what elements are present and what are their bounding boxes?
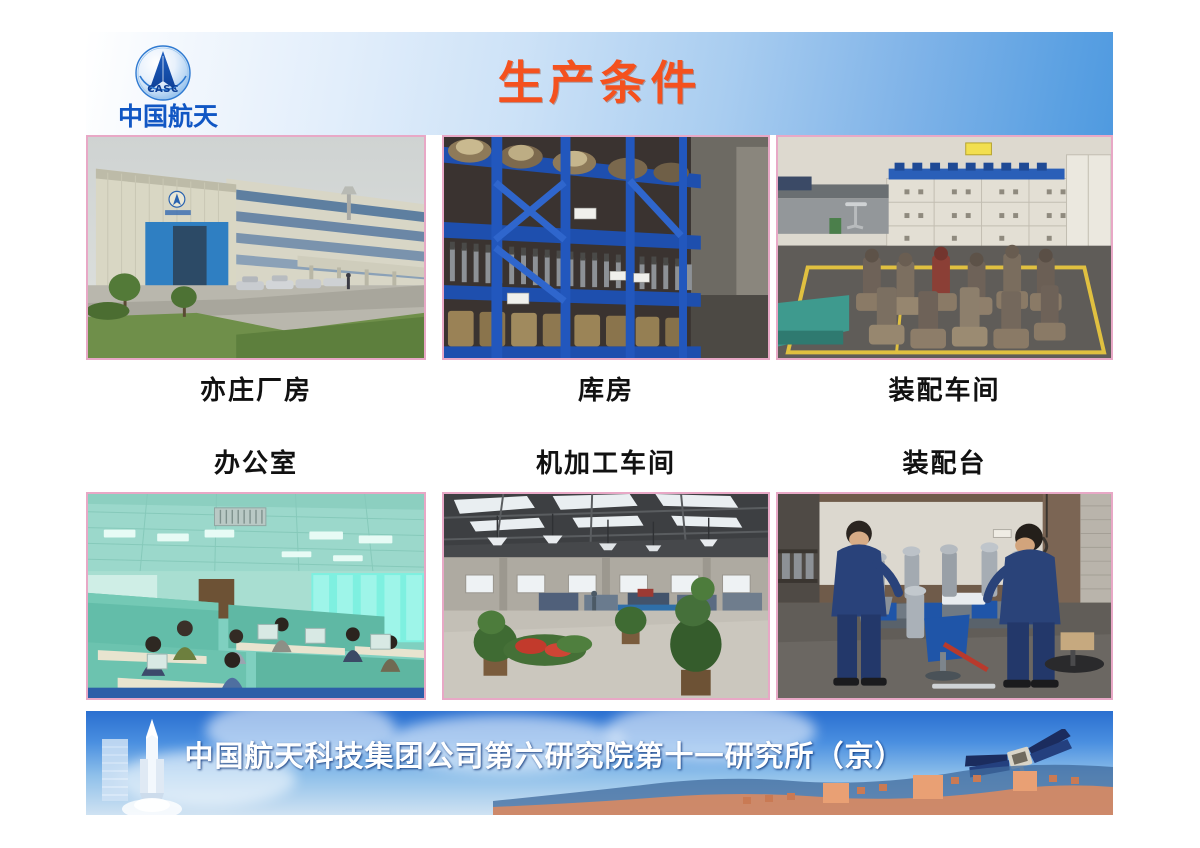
logo-block: CASC 中国航天 (118, 44, 238, 136)
photo-machining-workshop[interactable] (442, 492, 770, 700)
photo-assembly-workshop[interactable] (776, 135, 1113, 360)
photo-caption: 机加工车间 (442, 451, 770, 477)
photo-caption: 装配车间 (776, 378, 1113, 404)
photo-office[interactable] (86, 492, 426, 700)
photo-warehouse[interactable] (442, 135, 770, 360)
photo-caption: 亦庄厂房 (86, 378, 426, 404)
page-title: 生产条件 (86, 60, 1113, 106)
header-band: 生产条件 (86, 32, 1113, 135)
casc-emblem-icon: CASC (132, 44, 194, 106)
footer-banner: 中国航天科技集团公司第六研究院第十一研究所（京） (86, 711, 1113, 815)
footer-title: 中国航天科技集团公司第六研究院第十一研究所（京） (86, 742, 1113, 771)
photo-caption: 库房 (442, 378, 770, 404)
logo-wordmark: 中国航天 (118, 104, 238, 129)
photo-assembly-bench[interactable] (776, 492, 1113, 700)
photo-caption: 装配台 (776, 451, 1113, 477)
slide-root: 生产条件 (0, 0, 1200, 848)
photo-yizhuang-factory[interactable] (86, 135, 426, 360)
casc-mark-text: CASC (132, 84, 194, 95)
photo-caption: 办公室 (86, 451, 426, 477)
